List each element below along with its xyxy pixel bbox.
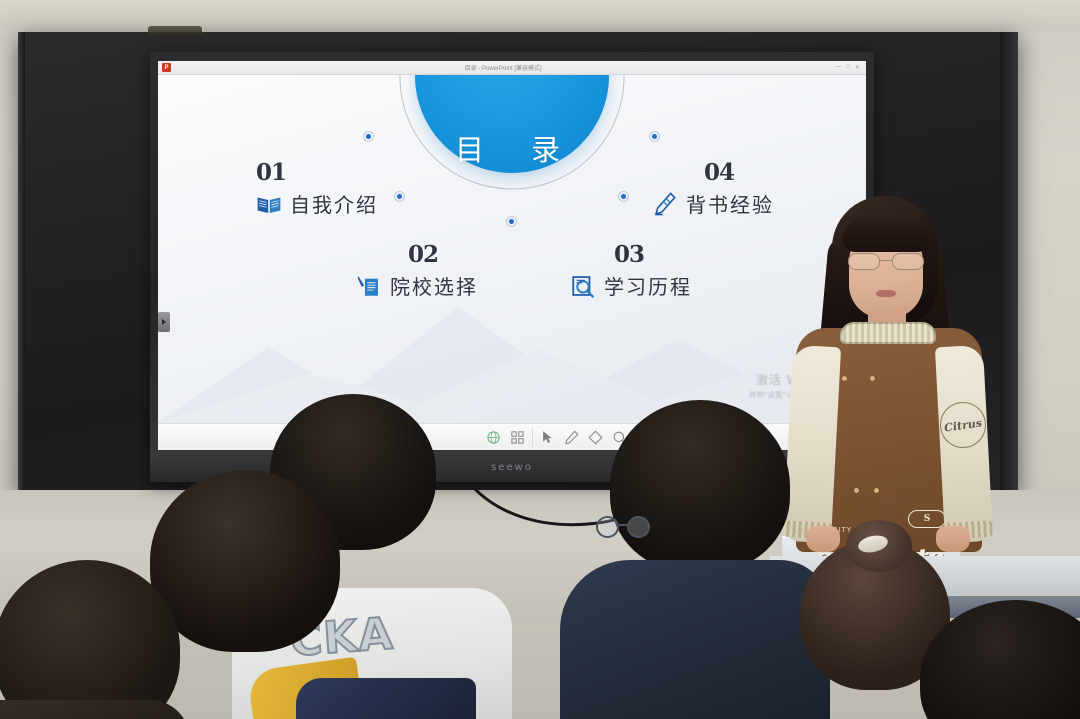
toc-item-03[interactable]: 03 学习历程: [570, 243, 692, 300]
window-controls[interactable]: — □ ✕: [835, 64, 862, 71]
presenter: VARSITY 1977 S Quicidate Citrus: [788, 196, 988, 556]
mountain-watermark: [158, 273, 866, 423]
pencil-icon: [652, 191, 678, 217]
pen-icon[interactable]: [564, 430, 579, 445]
mouth: [876, 290, 896, 297]
slide-heading: 目 录: [455, 127, 569, 169]
sleeve-left: [783, 345, 841, 543]
screen-side-handle[interactable]: [158, 312, 170, 332]
student-shoulders-navy: [560, 560, 830, 719]
student-head-mid-left: [150, 470, 340, 652]
jacket-badge: S: [908, 510, 946, 528]
student-head-back-right: [610, 400, 790, 572]
glasses-icon: [846, 253, 926, 270]
hand-left: [806, 526, 840, 552]
toc-number: 03: [614, 243, 692, 266]
cursor-arrow-icon[interactable]: [540, 430, 555, 445]
arc-dot-3: [507, 217, 516, 226]
maximize-button[interactable]: □: [846, 64, 850, 71]
close-button[interactable]: ✕: [855, 64, 860, 71]
toc-label: 背书经验: [686, 189, 774, 218]
toc-label: 学习历程: [604, 271, 692, 300]
rib-collar: [840, 322, 936, 344]
toc-number: 04: [704, 161, 774, 184]
toc-label: 自我介绍: [290, 189, 378, 218]
display-screen[interactable]: 2024年 星期三 下午 3:16 P 目录 - PowerPoint [兼容模…: [158, 61, 866, 450]
slide-canvas[interactable]: 目 录 01 自我介绍 0: [158, 75, 866, 423]
toolbar-group-view[interactable]: [479, 428, 533, 447]
toc-number: 01: [256, 161, 378, 184]
fringe: [843, 218, 931, 252]
student-shoulder-blue: [296, 678, 476, 719]
brand-label: seewo: [491, 462, 533, 473]
open-book-icon: [256, 191, 282, 217]
arc-dot-4: [619, 192, 628, 201]
powerpoint-titlebar[interactable]: P 目录 - PowerPoint [兼容模式] — □ ✕: [158, 61, 866, 75]
globe-icon[interactable]: [486, 430, 501, 445]
arc-dot-1: [364, 132, 373, 141]
eraser-icon[interactable]: [588, 430, 603, 445]
hand-right: [936, 526, 970, 552]
student-shoulders-front-left: [0, 700, 190, 719]
toc-item-04[interactable]: 04 背书经验: [652, 161, 774, 218]
interactive-whiteboard[interactable]: 2024年 星期三 下午 3:16 P 目录 - PowerPoint [兼容模…: [150, 52, 874, 482]
window-title: 目录 - PowerPoint [兼容模式]: [175, 63, 831, 72]
arc-dot-2: [395, 192, 404, 201]
blackboard-right-edge: [1000, 32, 1018, 494]
pen-document-icon: [356, 273, 382, 299]
toc-item-01[interactable]: 01 自我介绍: [256, 161, 378, 218]
grid-icon[interactable]: [510, 430, 525, 445]
student-glasses-icon: [596, 516, 650, 538]
powerpoint-icon: P: [162, 63, 171, 72]
classroom-scene: 2024年 星期三 下午 3:16 P 目录 - PowerPoint [兼容模…: [0, 0, 1080, 719]
blackboard-clip-left: [148, 26, 202, 36]
blackboard-left-edge: [18, 32, 25, 494]
arc-dot-5: [650, 132, 659, 141]
minimize-button[interactable]: —: [835, 64, 841, 71]
magnifier-document-icon: [570, 273, 596, 299]
toc-item-02[interactable]: 02 院校选择: [356, 243, 478, 300]
toc-number: 02: [408, 243, 478, 266]
toc-label: 院校选择: [390, 271, 478, 300]
